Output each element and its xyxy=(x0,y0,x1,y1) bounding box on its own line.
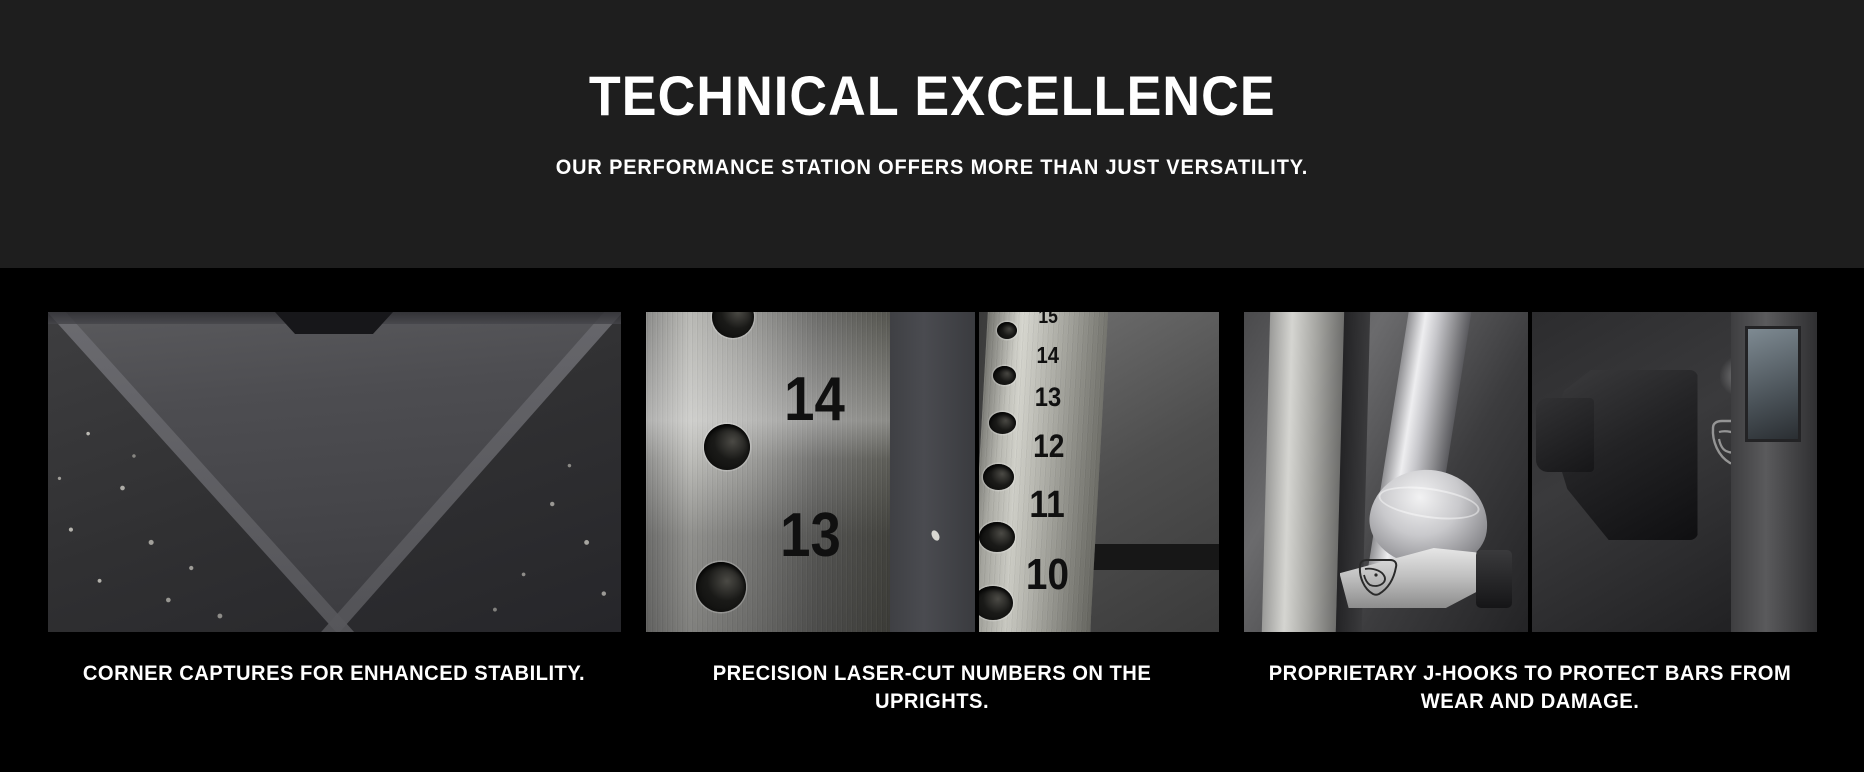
black-j-hook-cradle xyxy=(1536,398,1594,472)
debris-speck xyxy=(929,529,940,542)
concrete-background xyxy=(1091,312,1219,632)
upright-closeup-left: 14 13 xyxy=(646,312,890,632)
adjustment-hole xyxy=(997,322,1017,339)
feature-caption: PROPRIETARY J-HOOKS TO PROTECT BARS FROM… xyxy=(1261,660,1799,716)
feature-caption: CORNER CAPTURES FOR ENHANCED STABILITY. xyxy=(65,660,603,688)
jhook-with-barbell xyxy=(1244,312,1528,632)
upright-closeup-right: 15 14 13 12 11 10 xyxy=(979,312,1219,632)
plate-top-notch xyxy=(275,312,393,334)
rack-frame-window xyxy=(1745,326,1801,442)
j-hook-mount-tip xyxy=(1476,550,1512,608)
feature-image-corner-captures xyxy=(48,312,621,632)
feature-image-j-hooks xyxy=(1244,312,1817,632)
upright-number-14: 14 xyxy=(1036,342,1059,369)
upright-number-12: 12 xyxy=(1033,428,1064,465)
feature-card-j-hooks[interactable]: PROPRIETARY J-HOOKS TO PROTECT BARS FROM… xyxy=(1244,312,1817,716)
rack-upright-rail xyxy=(1261,312,1344,632)
page-title: TECHNICAL EXCELLENCE xyxy=(589,68,1276,124)
upright-number-13: 13 xyxy=(1034,382,1060,413)
black-j-hook-on-rack xyxy=(1532,312,1817,632)
upright-shadow-column xyxy=(890,312,975,632)
page-subtitle: OUR PERFORMANCE STATION OFFERS MORE THAN… xyxy=(556,156,1308,180)
section-header: TECHNICAL EXCELLENCE OUR PERFORMANCE STA… xyxy=(0,0,1864,268)
feature-caption: PRECISION LASER-CUT NUMBERS ON THE UPRIG… xyxy=(663,660,1201,716)
adjustment-hole xyxy=(989,412,1016,434)
feature-card-laser-cut-numbers[interactable]: 14 13 xyxy=(646,312,1219,716)
adjustment-hole xyxy=(704,424,750,470)
upright-number-13: 13 xyxy=(780,500,841,571)
technical-excellence-section: TECHNICAL EXCELLENCE OUR PERFORMANCE STA… xyxy=(0,0,1864,772)
adjustment-hole xyxy=(696,562,746,612)
feature-card-corner-captures[interactable]: CORNER CAPTURES FOR ENHANCED STABILITY. xyxy=(48,312,621,688)
eagle-head-icon xyxy=(1356,558,1398,596)
upright-number-11: 11 xyxy=(1029,484,1064,527)
adjustment-hole xyxy=(983,464,1014,490)
upright-number-10: 10 xyxy=(1025,550,1068,600)
metal-sheen-overlay xyxy=(646,312,890,632)
feature-gallery: CORNER CAPTURES FOR ENHANCED STABILITY. … xyxy=(0,268,1864,772)
feature-image-laser-cut-numbers: 14 13 xyxy=(646,312,1219,632)
upright-number-15: 15 xyxy=(1038,312,1058,329)
rack-crossmember xyxy=(1091,544,1219,570)
upright-number-14: 14 xyxy=(784,364,845,435)
adjustment-hole xyxy=(979,522,1015,552)
adjustment-hole xyxy=(993,366,1016,385)
